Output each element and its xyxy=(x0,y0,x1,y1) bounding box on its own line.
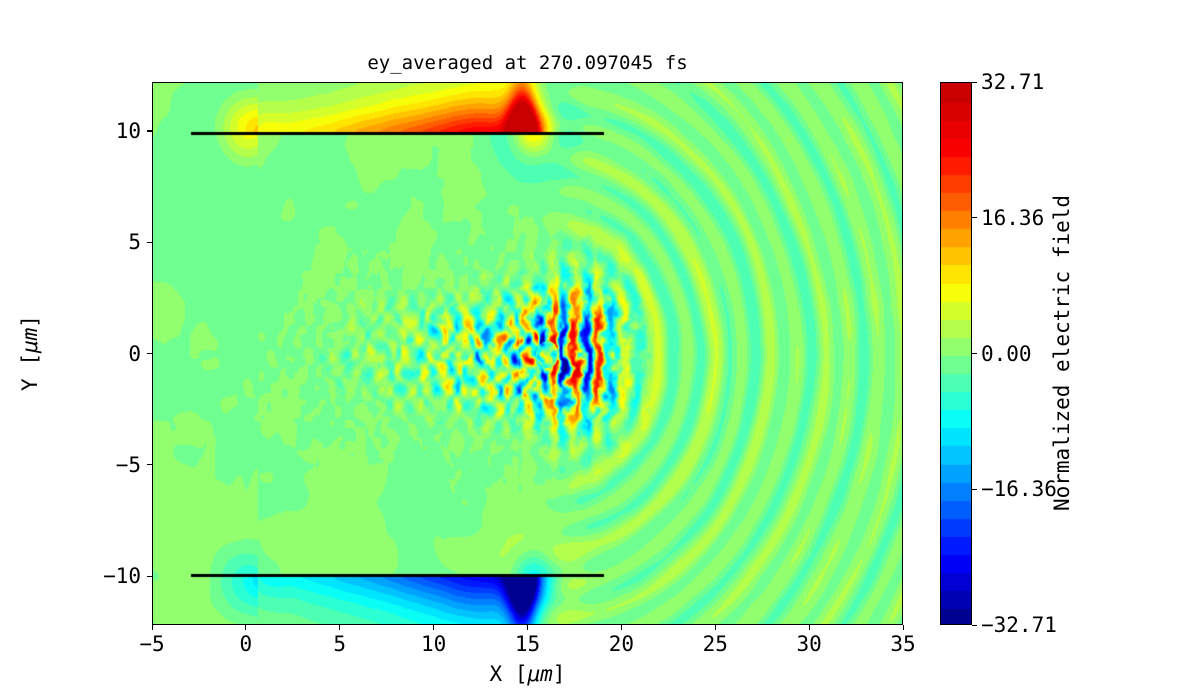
y-tick-label: −5 xyxy=(116,453,141,477)
colorbar-tick-label: 32.71 xyxy=(981,70,1044,94)
y-tick xyxy=(147,242,152,243)
x-axis-label-unit: μm xyxy=(527,662,552,686)
x-tick-label: 20 xyxy=(609,632,634,656)
colorbar-tick xyxy=(972,82,977,83)
y-tick xyxy=(147,576,152,577)
heatmap-axes xyxy=(152,82,903,625)
x-tick-label: 10 xyxy=(421,632,446,656)
x-tick xyxy=(621,625,622,630)
x-tick xyxy=(809,625,810,630)
x-axis-label: X [μm] xyxy=(152,662,903,686)
matplotlib-figure: ey_averaged at 270.097045 fs −5051015202… xyxy=(0,0,1200,700)
x-axis-label-text: X [ xyxy=(490,662,528,686)
y-axis-label-close: ] xyxy=(18,315,42,328)
colorbar-gradient-canvas xyxy=(941,83,972,625)
field-heatmap-canvas xyxy=(153,83,903,625)
y-tick-label: 0 xyxy=(128,342,141,366)
x-tick xyxy=(245,625,246,630)
colorbar-tick-label: 0.00 xyxy=(981,342,1032,366)
y-tick-label: −10 xyxy=(103,564,141,588)
x-tick-label: 30 xyxy=(796,632,821,656)
x-axis-label-close: ] xyxy=(553,662,566,686)
colorbar xyxy=(940,82,972,625)
y-tick xyxy=(147,464,152,465)
colorbar-label: Normalized electric field xyxy=(1050,195,1074,511)
y-axis-label-text: Y [ xyxy=(18,353,42,391)
y-tick-label: 5 xyxy=(128,230,141,254)
colorbar-tick-label: 16.36 xyxy=(981,206,1044,230)
x-tick-label: −5 xyxy=(139,632,164,656)
colorbar-tick xyxy=(972,489,977,490)
x-tick-label: 25 xyxy=(703,632,728,656)
y-tick xyxy=(147,130,152,131)
x-tick-label: 0 xyxy=(240,632,253,656)
plot-title: ey_averaged at 270.097045 fs xyxy=(152,52,903,74)
y-axis-label: Y [μm] xyxy=(18,315,42,391)
colorbar-tick xyxy=(972,625,977,626)
colorbar-tick xyxy=(972,217,977,218)
x-tick-label: 15 xyxy=(515,632,540,656)
x-tick-label: 35 xyxy=(890,632,915,656)
colorbar-tick xyxy=(972,353,977,354)
colorbar-tick-label: −16.36 xyxy=(981,477,1057,501)
colorbar-tick-label: −32.71 xyxy=(981,613,1057,637)
x-tick xyxy=(433,625,434,630)
y-tick-label: 10 xyxy=(116,119,141,143)
y-tick xyxy=(147,353,152,354)
y-axis-label-unit: μm xyxy=(18,328,42,353)
x-tick xyxy=(527,625,528,630)
x-tick xyxy=(339,625,340,630)
x-tick-label: 5 xyxy=(333,632,346,656)
x-tick xyxy=(903,625,904,630)
x-tick xyxy=(152,625,153,630)
x-tick xyxy=(715,625,716,630)
